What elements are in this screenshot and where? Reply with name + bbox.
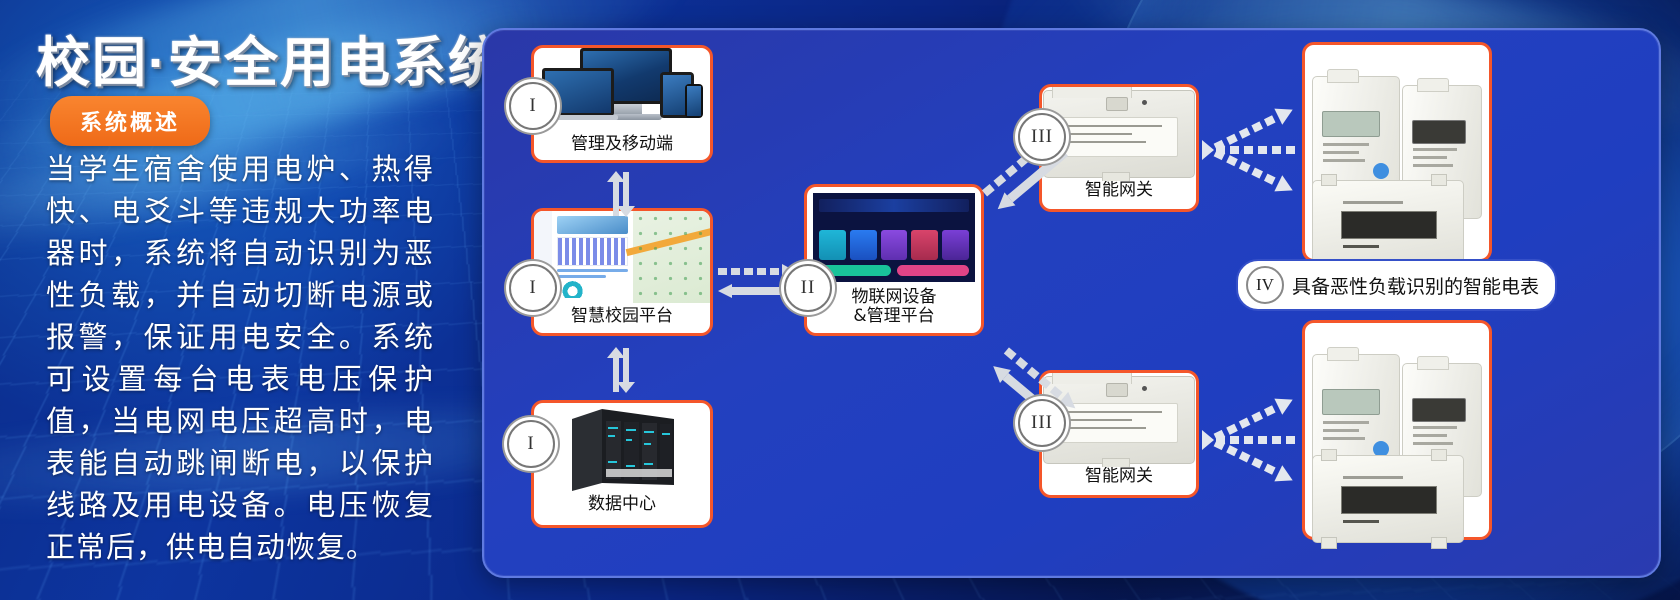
- node-caption: 智慧校园平台: [534, 303, 710, 333]
- node-caption: 智能网关: [1042, 467, 1196, 495]
- node-caption-line1: 物联网设备: [807, 288, 981, 308]
- monitor-devices-icon: [542, 48, 702, 135]
- iot-platform-screenshot: [807, 187, 981, 288]
- din-rail-meter-top: [1312, 180, 1464, 268]
- arrow-bidirectional-admin-campus: [604, 170, 638, 220]
- server-rack-icon: [562, 405, 682, 493]
- node-iot-platform[interactable]: 物联网设备 &管理平台: [804, 184, 984, 336]
- badge-roman-ii-iot: II: [784, 264, 832, 312]
- dashboard-map-image: [534, 211, 710, 303]
- poster-root: 校园·安全用电系统 系统概述 当学生宿舍使用电炉、热得快、电爻斗等违规大功率电器…: [0, 0, 1680, 600]
- din-meter-icon: [1312, 180, 1464, 268]
- label-smart-meter-malicious-load: IV 具备恶性负载识别的智能电表: [1236, 259, 1557, 311]
- arrow-bidirectional-campus-datacenter: [604, 346, 638, 396]
- din-rail-meter-bottom: [1312, 455, 1464, 543]
- badge-roman-i-admin: I: [509, 82, 557, 130]
- node-data-center[interactable]: 数据中心: [531, 400, 713, 528]
- badge-roman-i-datacenter: I: [507, 420, 555, 468]
- iot-dashboard-image: [813, 193, 975, 282]
- node-caption: 数据中心: [534, 495, 710, 525]
- system-overview-text: 当学生宿舍使用电炉、热得快、电爻斗等违规大功率电器时，系统将自动识别为恶性负载，…: [46, 148, 434, 568]
- admin-mobile-devices-image: [534, 48, 710, 135]
- node-caption-line2: &管理平台: [807, 307, 981, 333]
- architecture-diagram-panel: 管理及移动端 I 智慧校园平台 I: [482, 28, 1661, 578]
- server-rack-image: [534, 403, 710, 495]
- section-badge-system-overview: 系统概述: [50, 96, 210, 146]
- din-meter-icon: [1312, 455, 1464, 543]
- intro-panel: 校园·安全用电系统 系统概述 当学生宿舍使用电炉、热得快、电爻斗等违规大功率电器…: [0, 0, 470, 600]
- arrow-fanout-gateway-bottom-meters: [1200, 360, 1310, 520]
- node-caption: 管理及移动端: [534, 135, 710, 160]
- node-smart-campus-platform[interactable]: 智慧校园平台: [531, 208, 713, 336]
- badge-roman-iii-gateway-top: III: [1018, 113, 1066, 161]
- label-text: 具备恶性负载识别的智能电表: [1292, 272, 1539, 299]
- node-admin-mobile[interactable]: 管理及移动端: [531, 45, 713, 163]
- badge-roman-i-campus: I: [509, 264, 557, 312]
- page-title: 校园·安全用电系统: [36, 18, 504, 97]
- badge-roman-iv-meter: IV: [1246, 266, 1284, 304]
- smart-campus-screenshot: [534, 211, 710, 303]
- badge-roman-iii-gateway-bottom: III: [1018, 399, 1066, 447]
- arrow-fanout-gateway-top-meters: [1200, 70, 1310, 230]
